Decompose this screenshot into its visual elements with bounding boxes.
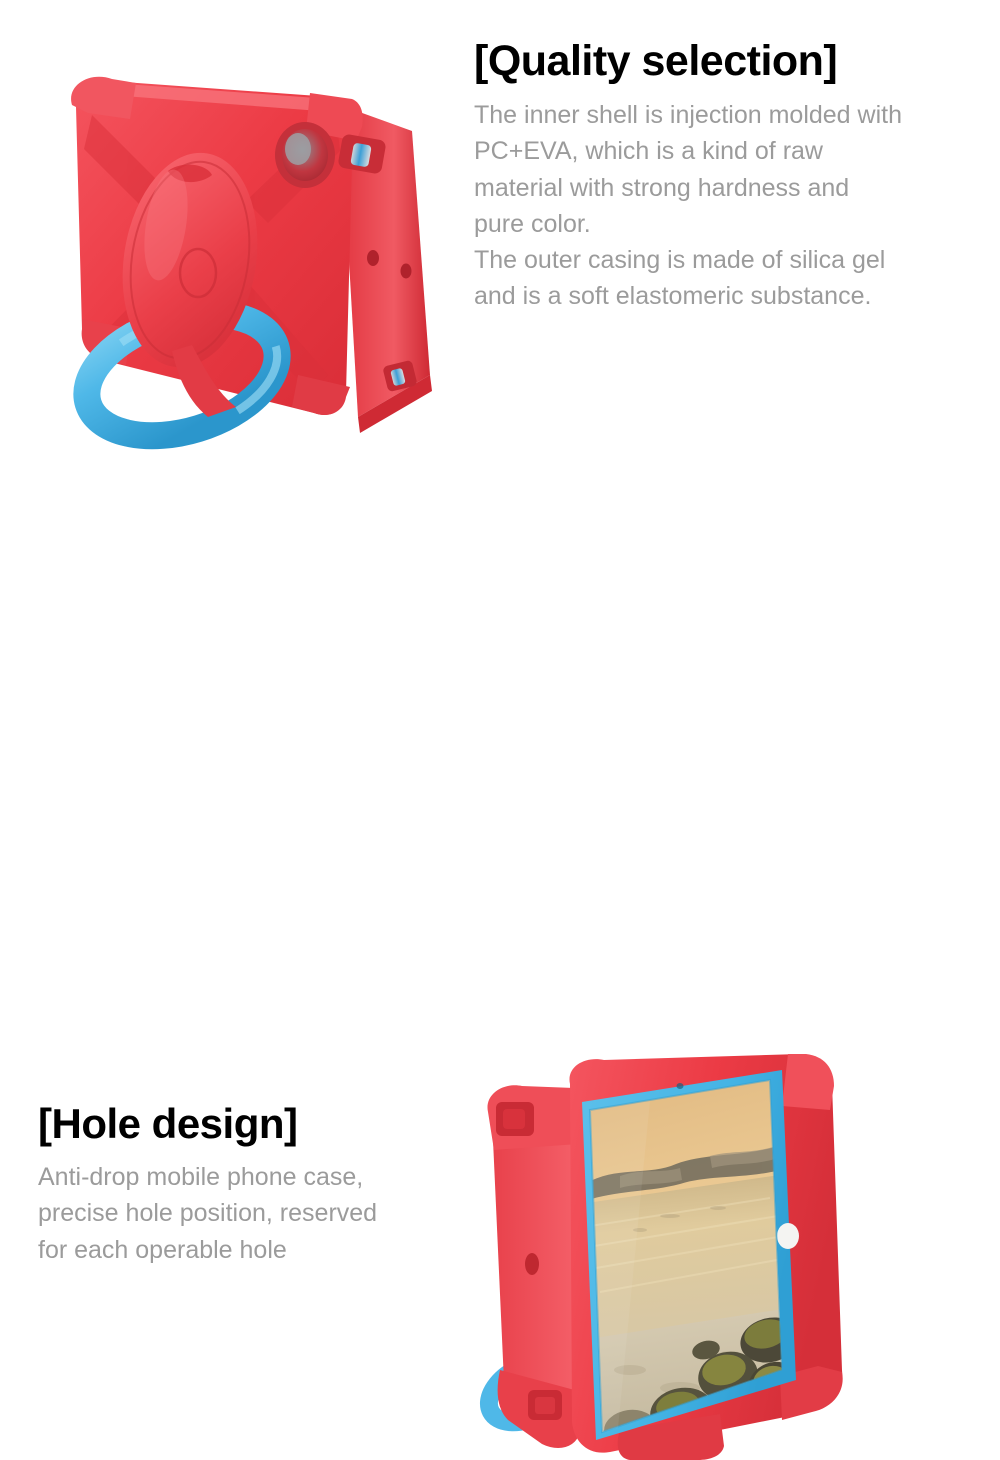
camera-cutout-icon	[275, 122, 335, 188]
speaker-hole-icon	[401, 264, 412, 279]
quality-body: The inner shell is injection molded with…	[474, 97, 974, 315]
product-image-case-front	[470, 1040, 890, 1460]
button-hole-icon	[525, 1253, 539, 1275]
product-feature-page: [Quality selection] The inner shell is i…	[0, 0, 1000, 1000]
hole-heading: [Hole design]	[38, 1103, 458, 1145]
quality-line-4: pure color.	[474, 206, 974, 242]
product-image-case-back	[40, 45, 460, 455]
hole-line-1: Anti-drop mobile phone case,	[38, 1159, 458, 1195]
section-quality-selection: [Quality selection] The inner shell is i…	[0, 0, 1000, 500]
speaker-hole-icon	[367, 250, 379, 266]
hole-body: Anti-drop mobile phone case, precise hol…	[38, 1159, 458, 1268]
corner-bumper	[782, 1054, 834, 1110]
quality-line-2: PC+EVA, which is a kind of raw	[474, 133, 974, 169]
quality-heading: [Quality selection]	[474, 40, 974, 83]
quality-text-block: [Quality selection] The inner shell is i…	[474, 40, 974, 315]
hole-text-block: [Hole design] Anti-drop mobile phone cas…	[38, 1103, 458, 1268]
front-camera-icon	[677, 1083, 684, 1089]
hole-line-3: for each operable hole	[38, 1232, 458, 1268]
hole-line-2: precise hole position, reserved	[38, 1195, 458, 1231]
quality-line-6: and is a soft elastomeric substance.	[474, 278, 974, 314]
quality-line-5: The outer casing is made of silica gel	[474, 242, 974, 278]
quality-line-1: The inner shell is injection molded with	[474, 97, 974, 133]
quality-line-3: material with strong hardness and	[474, 170, 974, 206]
home-button-icon	[777, 1223, 799, 1249]
section-hole-design: [Hole design] Anti-drop mobile phone cas…	[0, 500, 1000, 1000]
